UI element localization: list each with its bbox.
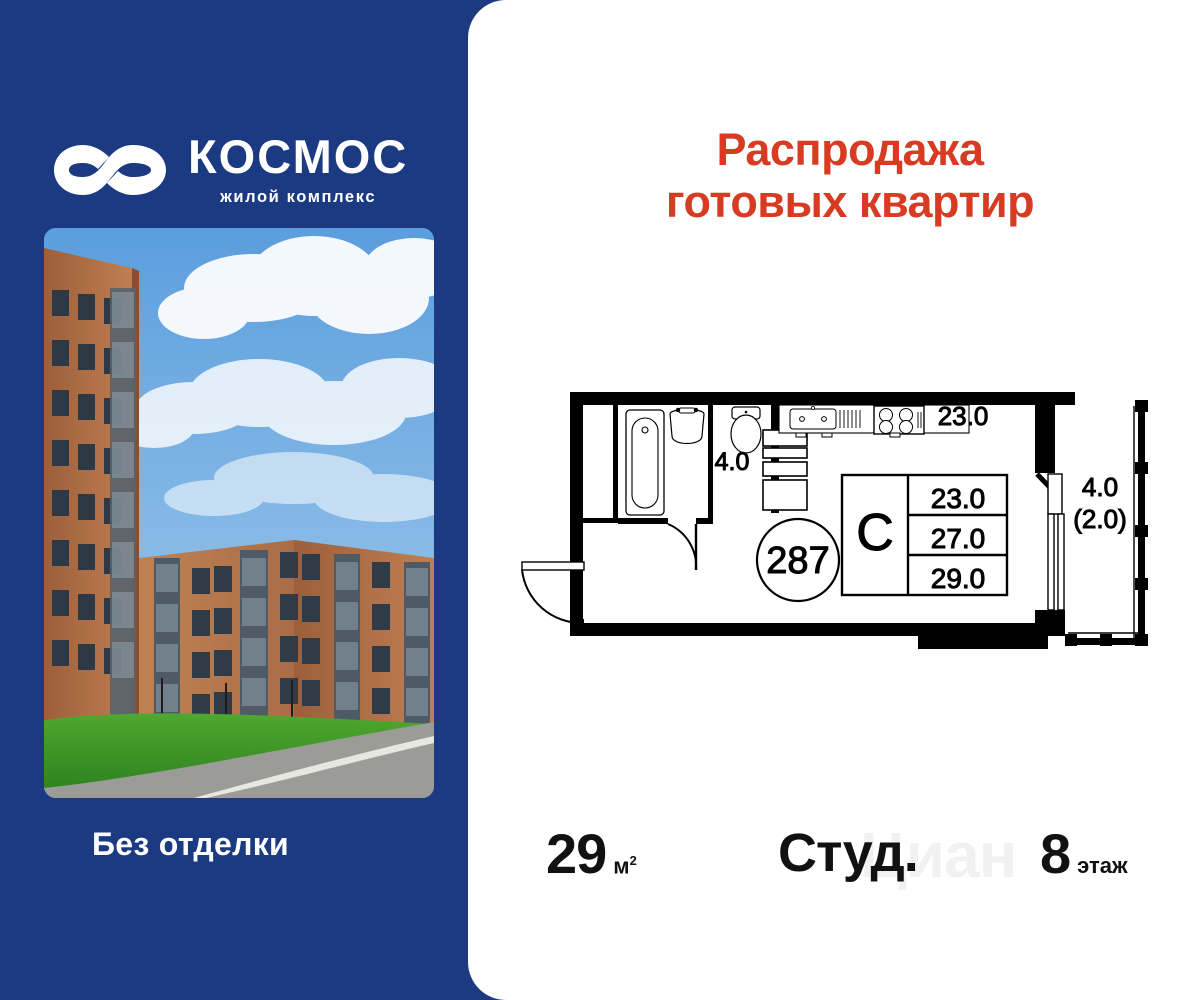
page-title-line1: Распродажа xyxy=(716,124,983,175)
left-brand-column: КОСМОС жилой комплекс xyxy=(0,0,468,1000)
balcony-area-label: 4.0 xyxy=(1082,472,1118,502)
stat-floor-value: 8 xyxy=(1040,826,1070,882)
apartment-number-label: 287 xyxy=(766,540,829,582)
brand-name: КОСМОС xyxy=(188,133,408,180)
bathroom-area-label: 4.0 xyxy=(715,448,750,476)
infinity-icon xyxy=(50,139,170,201)
apartment-type-letter: С xyxy=(856,504,894,562)
page-title: Распродажа готовых квартир xyxy=(500,124,1200,228)
stat-floor: 8 этаж xyxy=(1040,826,1128,882)
building-photo xyxy=(44,228,434,798)
floor-plan: 4.0 xyxy=(508,370,1178,670)
stat-area-value: 29 xyxy=(546,826,606,882)
stat-area: 29 м2 xyxy=(546,826,637,882)
stat-type-value: Студ. xyxy=(778,826,918,880)
table-row-1: 27.0 xyxy=(931,523,986,554)
brand-tagline: жилой комплекс xyxy=(220,188,376,207)
stat-area-unit: м2 xyxy=(613,854,637,877)
listing-stats: 29 м2 Студ. 8 этаж xyxy=(500,812,1200,902)
stat-type: Студ. xyxy=(778,826,918,880)
stat-area-unit-sup: 2 xyxy=(630,853,637,868)
promo-card-page: КОСМОС жилой комплекс xyxy=(0,0,1200,1000)
brand-text: КОСМОС жилой комплекс xyxy=(188,133,408,207)
page-title-line2: готовых квартир xyxy=(500,176,1200,228)
balcony-area-reduced-label: (2.0) xyxy=(1073,504,1126,534)
living-area-label: 23.0 xyxy=(938,401,989,431)
table-row-0: 23.0 xyxy=(931,483,986,514)
stat-area-unit-text: м xyxy=(613,853,629,878)
finish-type-label: Без отделки xyxy=(92,826,289,863)
brand-logo: КОСМОС жилой комплекс xyxy=(50,125,440,215)
stat-floor-unit: этаж xyxy=(1077,855,1127,877)
table-row-2: 29.0 xyxy=(931,563,986,594)
